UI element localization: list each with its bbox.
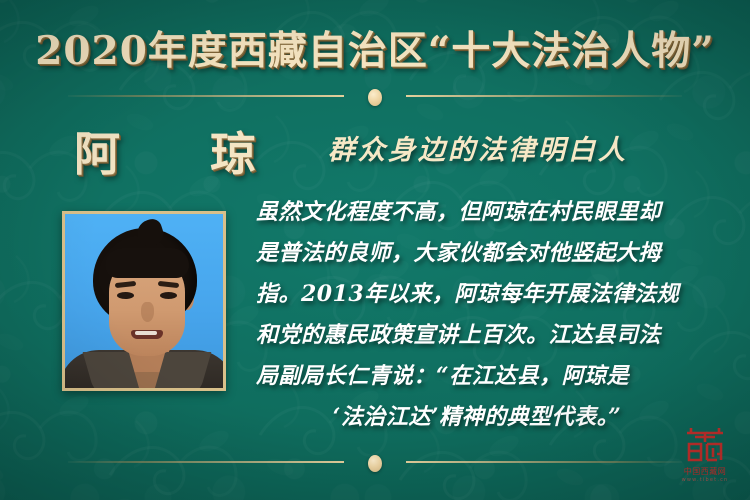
logo-site-name: 中国西藏网 <box>674 467 736 477</box>
page-title: 2020年度西藏自治区“十大法治人物” <box>35 28 714 74</box>
subtitle: 群众身边的法律明白人 <box>258 134 698 168</box>
body-line: 指。2013年以来，阿琼每年开展法律法规 <box>256 274 698 315</box>
body-text: 虽然文化程度不高，但阿琼在村民眼里却 是普法的良师，大家伙都会对他竖起大拇 指。… <box>256 192 698 438</box>
portrait-photo <box>62 211 226 391</box>
body-line: 和党的惠民政策宣讲上百次。江达县司法 <box>256 315 698 356</box>
divider-top <box>0 89 750 103</box>
portrait-eye-right <box>160 292 177 299</box>
portrait-teeth <box>135 331 157 335</box>
divider-bottom-dot-icon <box>368 455 382 472</box>
body-line: 局副局长仁青说：“在江达县，阿琼是 <box>256 356 698 397</box>
body-line: ‘法治江达’精神的典型代表。” <box>256 397 698 438</box>
portrait-eye-left <box>117 292 134 299</box>
divider-top-left-bar <box>68 95 344 97</box>
body-line: 是普法的良师，大家伙都会对他竖起大拇 <box>256 233 698 274</box>
body-line: 虽然文化程度不高，但阿琼在村民眼里却 <box>256 192 698 233</box>
divider-bottom-left-bar <box>68 461 344 463</box>
title-container: 2020年度西藏自治区“十大法治人物” <box>0 28 750 74</box>
divider-bottom <box>0 455 750 469</box>
portrait-fringe <box>105 248 189 278</box>
portrait-nose <box>141 302 154 322</box>
divider-top-right-bar <box>406 95 682 97</box>
seal-icon <box>683 424 727 464</box>
person-name: 阿 琼 <box>74 127 278 181</box>
divider-top-dot-icon <box>368 89 382 106</box>
site-logo[interactable]: 中国西藏网 www.tibet.cn <box>674 424 736 484</box>
poster-canvas: 2020年度西藏自治区“十大法治人物” 阿 琼 群众身边的法律明白人 <box>0 0 750 500</box>
logo-url: www.tibet.cn <box>674 477 736 484</box>
divider-bottom-right-bar <box>406 461 682 463</box>
portrait-photo-inner <box>65 214 223 388</box>
